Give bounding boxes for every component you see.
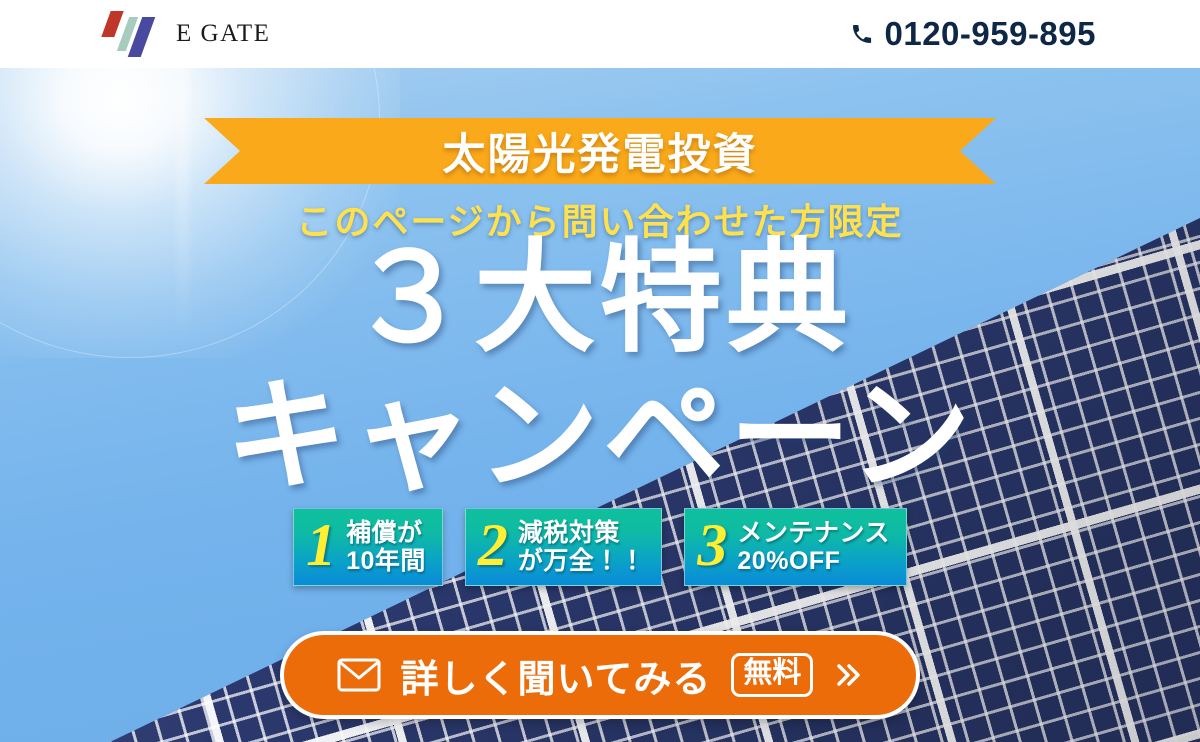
benefit-badge-list: 1 補償が 10年間 2 減税対策 が万全！！ 3 メンテナンス 20%OFF <box>0 508 1200 586</box>
brand-name: E GATE <box>176 20 270 48</box>
contact-cta-button[interactable]: 詳しく聞いてみる 無料 <box>280 631 920 719</box>
benefit-line-2: が万全！！ <box>518 547 646 575</box>
benefit-line-2: 20%OFF <box>737 547 890 575</box>
benefit-line-1: メンテナンス <box>737 519 890 547</box>
benefit-line-2: 10年間 <box>346 547 426 575</box>
benefit-line-1: 補償が <box>346 519 426 547</box>
benefit-badge-2: 2 減税対策 が万全！！ <box>465 508 663 586</box>
benefit-text: 補償が 10年間 <box>346 519 426 575</box>
benefit-number: 2 <box>478 515 508 579</box>
egate-slash-logo-icon <box>104 11 162 57</box>
envelope-icon <box>337 658 381 692</box>
brand-logo[interactable]: E GATE <box>0 11 270 57</box>
hero-headline-line-1: ３大特典 <box>0 234 1200 362</box>
benefit-number: 3 <box>697 515 727 579</box>
header-phone[interactable]: 0120-959-895 <box>850 15 1200 53</box>
phone-icon <box>850 22 874 46</box>
ribbon-label: 太陽光発電投資 <box>443 120 758 182</box>
site-header: E GATE 0120-959-895 <box>0 0 1200 68</box>
benefit-text: メンテナンス 20%OFF <box>737 519 890 575</box>
cta-free-badge: 無料 <box>731 653 813 697</box>
hero-headline-line-2: キャンペーン <box>0 372 1200 500</box>
cta-container: 詳しく聞いてみる 無料 <box>0 631 1200 719</box>
benefit-badge-3: 3 メンテナンス 20%OFF <box>684 508 907 586</box>
benefit-badge-1: 1 補償が 10年間 <box>293 508 443 586</box>
benefit-text: 減税対策 が万全！！ <box>518 519 646 575</box>
cta-label: 詳しく聞いてみる <box>401 648 712 703</box>
ribbon-banner: 太陽光発電投資 <box>204 118 996 184</box>
benefit-line-1: 減税対策 <box>518 519 646 547</box>
benefit-number: 1 <box>306 515 336 579</box>
landing-page-hero: E GATE 0120-959-895 太陽光発電投資 このページから問い合わせ… <box>0 0 1200 742</box>
double-chevron-right-icon <box>833 660 863 690</box>
phone-number: 0120-959-895 <box>884 15 1096 53</box>
